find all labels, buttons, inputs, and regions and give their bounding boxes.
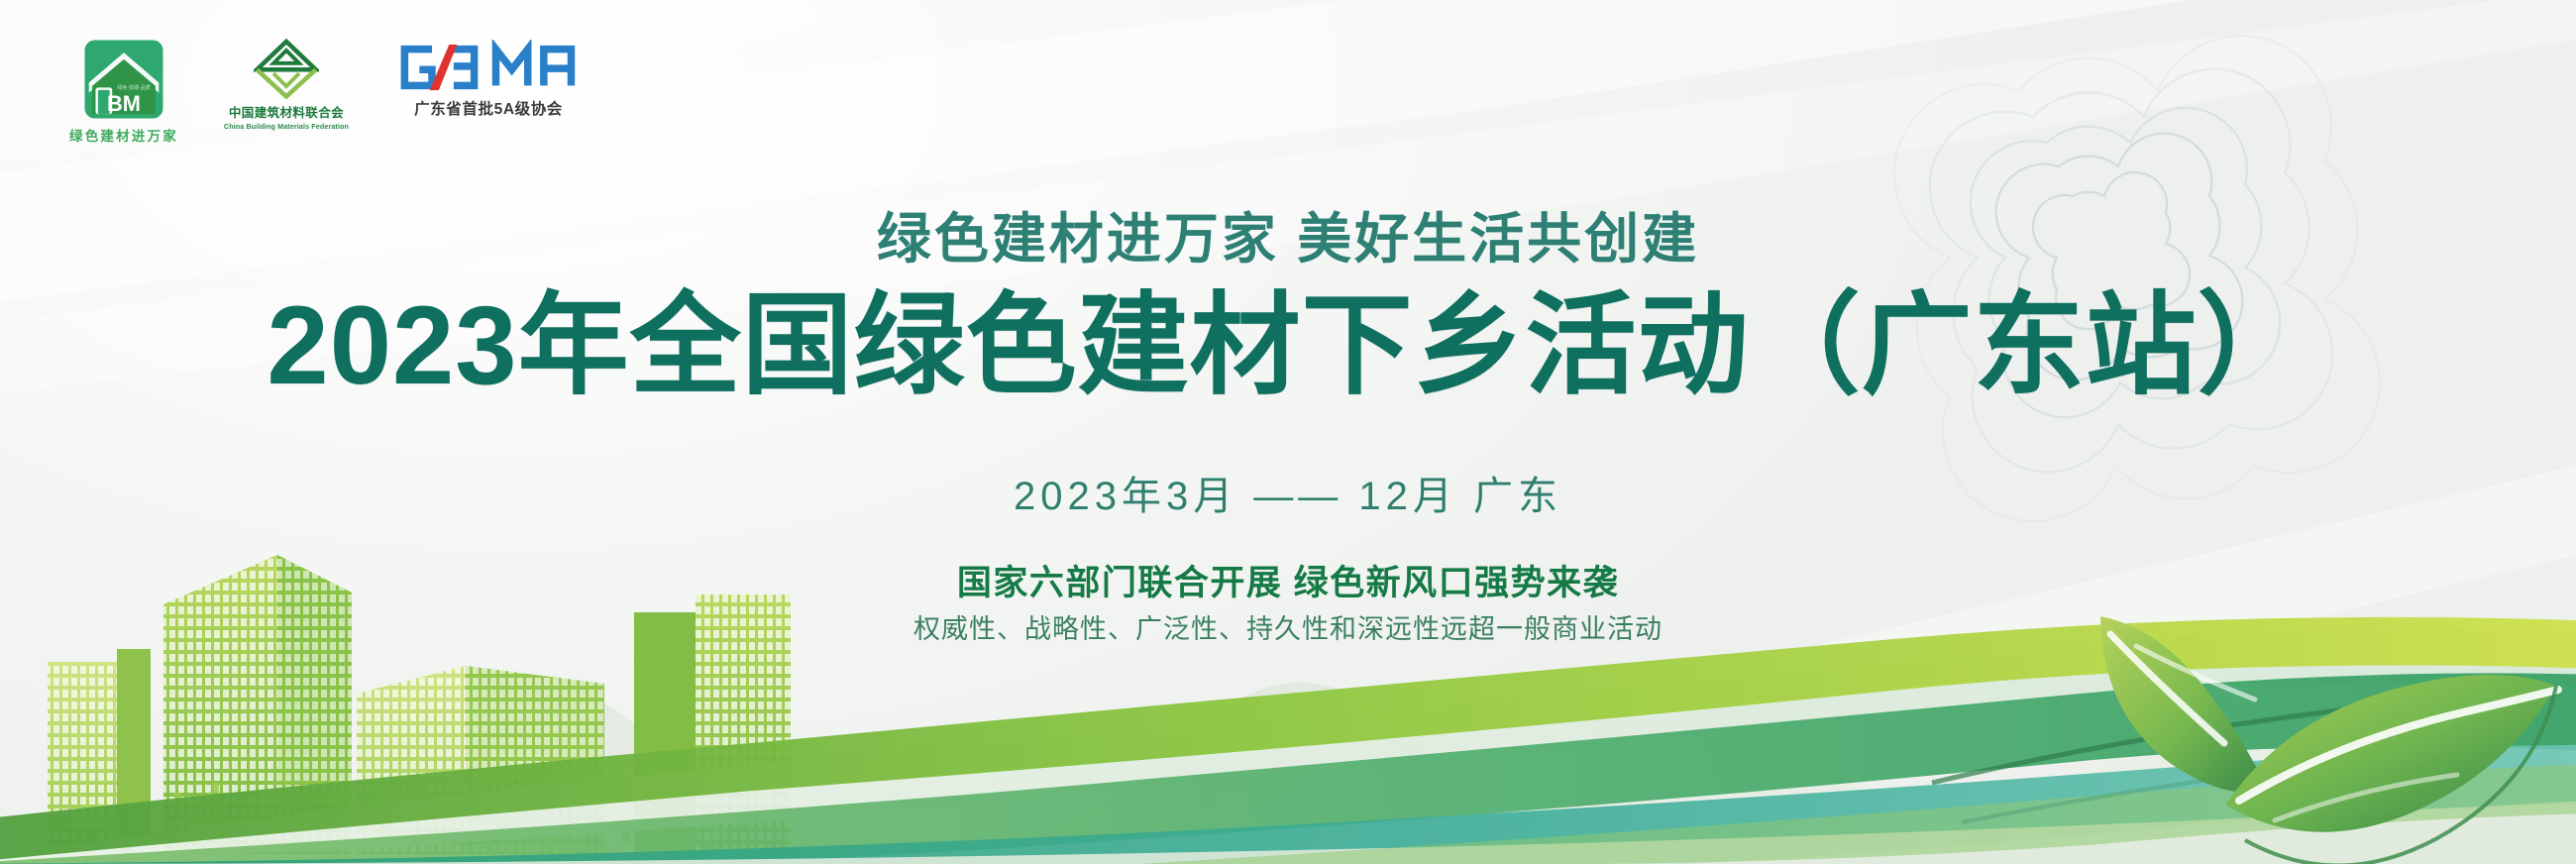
event-banner: BM 绿色·低碳·品质 绿色建材进万家 中国建筑材料联 bbox=[0, 0, 2576, 864]
logo2-caption-cn: 中国建筑材料联合会 bbox=[229, 102, 344, 121]
logo-cbmf[interactable]: 中国建筑材料联合会 China Building Materials Feder… bbox=[224, 38, 349, 131]
logo-green-building-materials[interactable]: BM 绿色·低碳·品质 绿色建材进万家 bbox=[69, 38, 178, 145]
svg-text:BM: BM bbox=[107, 91, 141, 116]
banner-description: 权威性、战略性、广泛性、持久性和深远性远超一般商业活动 bbox=[0, 607, 2576, 646]
house-bm-logo-icon: BM 绿色·低碳·品质 bbox=[82, 38, 165, 121]
cbmf-diamond-logo-icon bbox=[254, 38, 319, 99]
logo-gbma[interactable]: 广东省首批5A级协会 bbox=[394, 38, 583, 119]
logo2-caption-en: China Building Materials Federation bbox=[224, 122, 349, 131]
logo1-caption: 绿色建材进万家 bbox=[69, 125, 178, 145]
logo-row: BM 绿色·低碳·品质 绿色建材进万家 中国建筑材料联 bbox=[69, 38, 583, 145]
logo3-caption: 广东省首批5A级协会 bbox=[414, 97, 563, 119]
banner-subtitle: 绿色建材进万家 美好生活共创建 bbox=[0, 194, 2576, 273]
gbma-wordmark-logo-icon bbox=[394, 40, 583, 95]
banner-tagline: 国家六部门联合开展 绿色新风口强势来袭 bbox=[0, 555, 2576, 605]
logo1-micro-text: 绿色·低碳·品质 bbox=[117, 84, 151, 91]
banner-main-title: 2023年全国绿色建材下乡活动（广东站） bbox=[0, 287, 2576, 404]
banner-date-location: 2023年3月 —— 12月 广东 bbox=[0, 464, 2576, 521]
